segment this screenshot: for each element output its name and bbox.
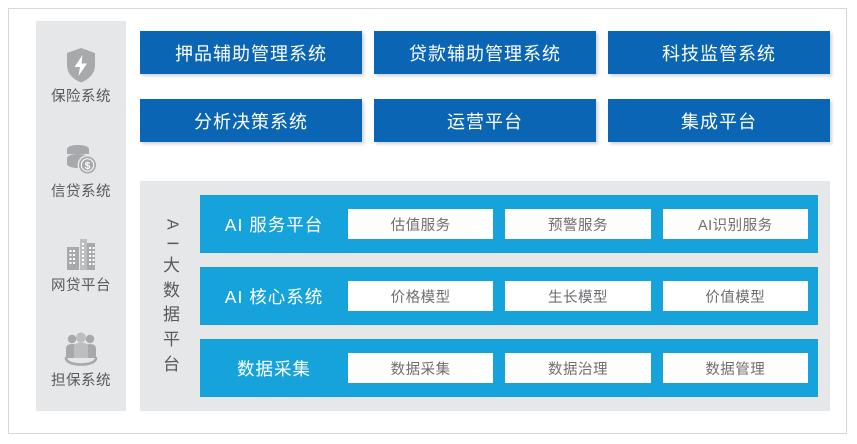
- chip-ai-recognition-service[interactable]: AI识别服务: [663, 209, 808, 239]
- svg-text:$: $: [85, 161, 91, 172]
- system-bar-loan-management[interactable]: 贷款辅助管理系统: [374, 31, 596, 74]
- system-bar-analysis-decision[interactable]: 分析决策系统: [140, 99, 362, 142]
- layer-chips: 价格模型 生长模型 价值模型: [348, 281, 808, 311]
- sidebar-item-label: 担保系统: [51, 374, 111, 389]
- sidebar-item-label: 网贷平台: [51, 279, 111, 294]
- platform-layer-ai-service: AI 服务平台 估值服务 预警服务 AI识别服务: [200, 195, 818, 253]
- chip-data-collection[interactable]: 数据采集: [348, 353, 493, 383]
- sidebar-item-guarantee[interactable]: 担保系统: [36, 328, 126, 389]
- sidebar-item-label: 保险系统: [51, 90, 111, 105]
- chip-value-model[interactable]: 价值模型: [663, 281, 808, 311]
- top-systems: 押品辅助管理系统 贷款辅助管理系统 科技监管系统 分析决策系统 运营平台 集成平…: [140, 31, 830, 167]
- sidebar-item-credit[interactable]: $ 信贷系统: [36, 139, 126, 200]
- layer-chips: 数据采集 数据治理 数据管理: [348, 353, 808, 383]
- platform-vertical-label: A I 大 数 据 平 台: [150, 195, 194, 397]
- platform-layers: AI 服务平台 估值服务 预警服务 AI识别服务 AI 核心系统 价格模型 生长…: [200, 195, 818, 397]
- chip-data-governance[interactable]: 数据治理: [505, 353, 650, 383]
- layer-label: 数据采集: [200, 356, 348, 381]
- top-systems-row-1: 押品辅助管理系统 贷款辅助管理系统 科技监管系统: [140, 31, 830, 74]
- layer-label: AI 服务平台: [200, 212, 348, 237]
- ai-bigdata-platform-panel: A I 大 数 据 平 台 AI 服务平台 估值服务 预警服务 AI识别服务 A…: [140, 181, 830, 411]
- layer-chips: 估值服务 预警服务 AI识别服务: [348, 209, 808, 239]
- vertical-label-char: I: [163, 241, 181, 246]
- top-systems-row-2: 分析决策系统 运营平台 集成平台: [140, 99, 830, 142]
- vertical-label-char: 平: [163, 328, 181, 353]
- layer-label: AI 核心系统: [200, 284, 348, 309]
- platform-layer-data-collection: 数据采集 数据采集 数据治理 数据管理: [200, 339, 818, 397]
- system-bar-operations-platform[interactable]: 运营平台: [374, 99, 596, 142]
- chip-alert-service[interactable]: 预警服务: [505, 209, 650, 239]
- vertical-label-char: 大: [163, 254, 181, 279]
- system-bar-integration-platform[interactable]: 集成平台: [608, 99, 830, 142]
- vertical-label-char: 据: [163, 303, 181, 328]
- vertical-label-char: 台: [163, 353, 181, 378]
- system-bar-collateral-management[interactable]: 押品辅助管理系统: [140, 31, 362, 74]
- sidebar: 保险系统 $ 信贷系统: [36, 21, 126, 411]
- diagram-frame: 保险系统 $ 信贷系统: [8, 8, 847, 434]
- chip-valuation-service[interactable]: 估值服务: [348, 209, 493, 239]
- people-group-icon: [60, 328, 102, 370]
- shield-bolt-icon: [60, 44, 102, 86]
- sidebar-item-insurance[interactable]: 保险系统: [36, 44, 126, 105]
- chip-price-model[interactable]: 价格模型: [348, 281, 493, 311]
- coins-dollar-icon: $: [60, 139, 102, 181]
- system-bar-tech-supervision[interactable]: 科技监管系统: [608, 31, 830, 74]
- sidebar-item-online-loan[interactable]: 网贷平台: [36, 233, 126, 294]
- vertical-label-char: A: [163, 219, 181, 231]
- platform-layer-ai-core: AI 核心系统 价格模型 生长模型 价值模型: [200, 267, 818, 325]
- sidebar-item-label: 信贷系统: [51, 185, 111, 200]
- chip-growth-model[interactable]: 生长模型: [505, 281, 650, 311]
- buildings-icon: [60, 233, 102, 275]
- vertical-label-char: 数: [163, 279, 181, 304]
- chip-data-management[interactable]: 数据管理: [663, 353, 808, 383]
